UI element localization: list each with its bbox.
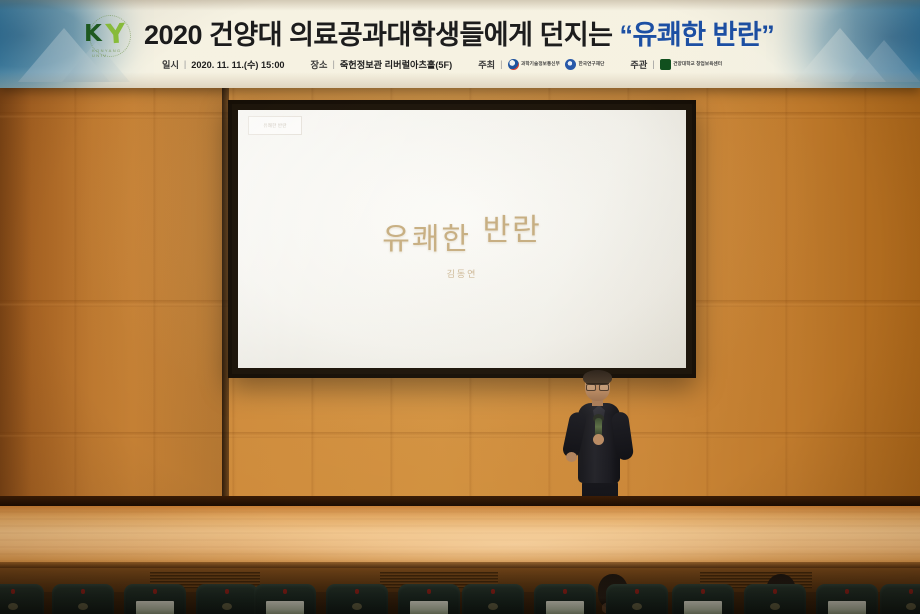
seat-handout — [410, 601, 448, 614]
seat-number-tag — [491, 589, 495, 594]
nrf-seal-icon — [565, 59, 576, 70]
seat-handout — [828, 601, 866, 614]
seat-emblem — [770, 603, 780, 610]
seat-number-tag — [355, 589, 359, 594]
banner-organizer-label: 주관 — [630, 57, 647, 71]
slide-title: 유쾌한 반란 — [238, 214, 686, 258]
seat — [462, 584, 524, 614]
event-banner: K Y KONYANG UNIV 2020 건양대 의료공과대학생들에게 던지는… — [0, 0, 920, 88]
seat — [880, 584, 920, 614]
banner-divider: | — [332, 59, 334, 69]
seat-number-tag — [909, 589, 913, 594]
seat-number-tag — [773, 589, 777, 594]
seat — [606, 584, 668, 614]
seat-handout — [266, 601, 304, 614]
seat — [124, 584, 186, 614]
banner-place-label: 장소 — [311, 57, 328, 71]
banner-title-prefix: 2020 건양대 의료공과대학생들에게 던지는 — [144, 20, 620, 50]
seat-emblem — [8, 603, 18, 610]
banner-divider: | — [652, 59, 654, 69]
seat — [398, 584, 460, 614]
organizer-org-logo: 건양대학교 창업보육센터 — [660, 59, 722, 70]
seat-number-tag — [283, 589, 287, 594]
seat-handout — [136, 601, 174, 614]
ky-logo-letter-y: Y — [105, 20, 126, 48]
seat-emblem — [632, 603, 642, 610]
banner-date-value: 2020. 11. 11.(수) 15:00 — [191, 57, 284, 71]
banner-divider: | — [184, 59, 186, 69]
seat-emblem — [352, 603, 362, 610]
seat-number-tag — [153, 589, 157, 594]
host-org-name: 과학기술정보통신부 — [521, 61, 560, 67]
projection-screen-surface: 유쾌한 반란 유쾌한 반란 김동연 — [238, 110, 686, 368]
banner-info-line: 일시 | 2020. 11. 11.(수) 15:00 장소 | 죽헌정보관 리… — [162, 57, 722, 71]
wall-panel-seam — [0, 432, 920, 438]
eyeglasses-icon — [586, 383, 609, 389]
seat-emblem — [906, 603, 916, 610]
ministry-seal-icon — [508, 59, 519, 70]
seat — [0, 584, 44, 614]
ky-seal-icon — [660, 59, 671, 70]
banner-date-label: 일시 — [162, 57, 179, 71]
banner-divider: | — [500, 59, 502, 69]
seat-number-tag — [11, 589, 15, 594]
projection-screen: 유쾌한 반란 유쾌한 반란 김동연 — [228, 100, 696, 378]
host-org-logo: 한국연구재단 — [565, 59, 604, 70]
ky-logo: K Y KONYANG UNIV — [82, 14, 136, 58]
seat-number-tag — [563, 589, 567, 594]
banner-title-highlight: “유쾌한 반란” — [620, 20, 775, 50]
stage-baseboard — [0, 496, 920, 506]
seat — [254, 584, 316, 614]
slide-header-chip: 유쾌한 반란 — [248, 116, 302, 135]
seat-number-tag — [427, 589, 431, 594]
host-org-name: 한국연구재단 — [578, 61, 604, 67]
seat-emblem — [222, 603, 232, 610]
seat — [534, 584, 596, 614]
audience-seating-area — [0, 568, 920, 614]
seat-handout — [546, 601, 584, 614]
seat-number-tag — [81, 589, 85, 594]
seat — [196, 584, 258, 614]
seat — [744, 584, 806, 614]
stage-floor — [0, 506, 920, 568]
seat-number-tag — [845, 589, 849, 594]
banner-host-label: 주최 — [478, 57, 495, 71]
slide-content: 유쾌한 반란 김동연 — [238, 214, 686, 280]
speaker-hand-left — [566, 452, 577, 462]
ky-logo-letter-k: K — [84, 23, 102, 46]
banner-title: 2020 건양대 의료공과대학생들에게 던지는 “유쾌한 반란” — [144, 13, 774, 52]
organizer-org-name: 건양대학교 창업보육센터 — [673, 61, 722, 67]
slide-chip-label: 유쾌한 반란 — [263, 123, 286, 129]
banner-mountain-graphic — [848, 40, 920, 82]
seat-number-tag — [701, 589, 705, 594]
slide-title-part1: 유쾌한 — [382, 222, 471, 257]
ky-logo-caption: KONYANG UNIV — [92, 48, 136, 58]
slide-title-part2: 반란 — [483, 213, 542, 248]
seat-handout — [684, 601, 722, 614]
seat — [816, 584, 878, 614]
auditorium-photo: 유쾌한 반란 유쾌한 반란 김동연 — [0, 0, 920, 614]
seat-emblem — [78, 603, 88, 610]
slide-presenter-name: 김동연 — [238, 267, 686, 280]
seat — [326, 584, 388, 614]
banner-place-value: 죽헌정보관 리버럴아츠홀(5F) — [340, 57, 452, 71]
seat-number-tag — [225, 589, 229, 594]
host-org-logo: 과학기술정보통신부 — [508, 59, 560, 70]
seat-number-tag — [635, 589, 639, 594]
seat — [52, 584, 114, 614]
speaker-hand-right — [593, 434, 604, 445]
seat-emblem — [488, 603, 498, 610]
seat — [672, 584, 734, 614]
